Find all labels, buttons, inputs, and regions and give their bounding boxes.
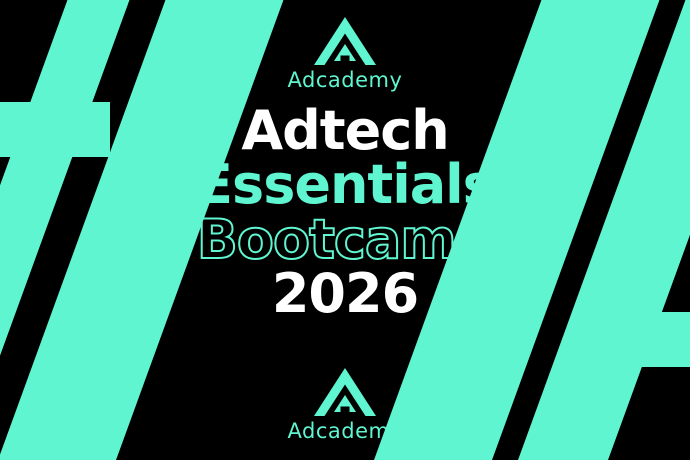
poster-canvas: Adcademy Adtech Essentials Bootcamp 2026… [0,0,690,460]
headline-block: Adtech Essentials Bootcamp 2026 [196,105,494,321]
headline-line-essentials: Essentials [196,159,494,211]
poster-content: Adcademy Adtech Essentials Bootcamp 2026… [0,0,690,460]
headline-line-bootcamp: Bootcamp [196,214,494,266]
brand-lockup-top: Adcademy [288,17,403,91]
brand-wordmark: Adcademy [288,421,403,442]
brand-wordmark: Adcademy [288,70,403,91]
adcademy-triangle-a-logo-icon [314,368,376,416]
adcademy-triangle-a-logo-icon [314,17,376,65]
headline-line-year: 2026 [196,268,494,320]
headline-line-adtech: Adtech [196,105,494,157]
brand-lockup-bottom: Adcademy [288,368,403,442]
